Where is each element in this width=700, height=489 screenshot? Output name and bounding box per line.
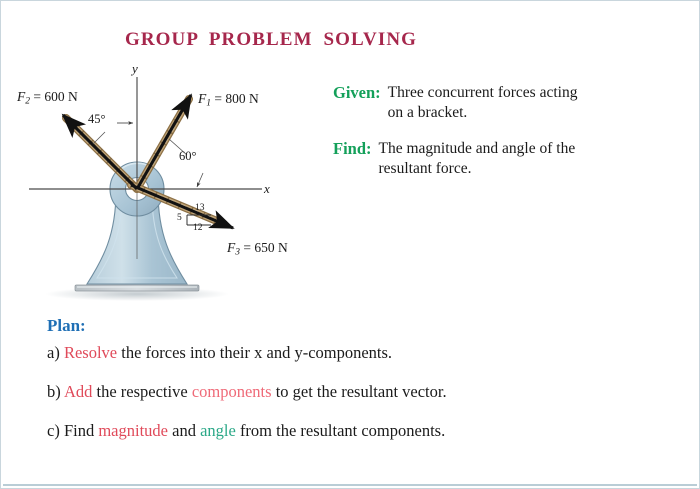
force-diagram: y x F2 = 600 N F1 = 800 N F3 = 650 N 45°…: [19, 63, 329, 308]
force-label-f3: F3 = 650 N: [227, 240, 288, 258]
slope-horizontal-label: 12: [193, 223, 203, 233]
force-value-f2: = 600 N: [30, 89, 78, 104]
force-label-f1: F1 = 800 N: [198, 91, 259, 109]
given-label: Given:: [333, 83, 388, 103]
leader-45: [93, 132, 105, 144]
base-plate: [75, 285, 199, 291]
find-row: Find: The magnitude and angle of the res…: [333, 139, 689, 179]
force-value-f1: = 800 N: [211, 91, 259, 106]
angle-label-60: 60°: [179, 149, 197, 164]
plan-item-text-highlight: magnitude: [98, 421, 168, 440]
find-text: The magnitude and angle of the resultant…: [379, 139, 589, 179]
force-arrow-f1: [137, 95, 191, 189]
given-text: Three concurrent forces acting on a brac…: [388, 83, 584, 123]
plan-item-text: to get the resultant vector.: [272, 382, 447, 401]
plan-item-marker: c): [47, 421, 60, 440]
y-axis-label: y: [132, 61, 138, 77]
plan-list: a) Resolve the forces into their x and y…: [47, 343, 657, 460]
force-label-f2: F2 = 600 N: [17, 89, 78, 107]
plan-item-marker: a): [47, 343, 60, 362]
plan-item-text: the forces into their x and y-components…: [117, 343, 392, 362]
force-symbol-f3: F: [227, 240, 235, 255]
plan-item-2: c) Find magnitude and angle from the res…: [47, 421, 657, 441]
force-symbol-f1: F: [198, 91, 206, 106]
page-title: GROUP PROBLEM SOLVING: [1, 29, 541, 51]
given-row: Given: Three concurrent forces acting on…: [333, 83, 689, 123]
plan-item-text-highlight: Add: [64, 382, 92, 401]
leader-60-lower: [197, 173, 203, 187]
plan-heading: Plan:: [47, 316, 86, 336]
plan-item-text: from the resultant components.: [236, 421, 445, 440]
plan-item-0: a) Resolve the forces into their x and y…: [47, 343, 657, 363]
slope-hypotenuse-label: 13: [195, 203, 205, 213]
find-label: Find:: [333, 139, 379, 159]
plan-item-text-highlight: angle: [200, 421, 236, 440]
slope-vertical-label: 5: [177, 213, 182, 223]
plan-item-text: the respective: [92, 382, 191, 401]
plan-item-text-highlight: Resolve: [64, 343, 117, 362]
plan-item-text: and: [168, 421, 200, 440]
given-find-block: Given: Three concurrent forces acting on…: [333, 83, 689, 196]
force-symbol-f2: F: [17, 89, 25, 104]
plan-item-text-highlight: components: [192, 382, 272, 401]
angle-label-45: 45°: [88, 112, 106, 127]
plan-item-marker: b): [47, 382, 61, 401]
slide-canvas: GROUP PROBLEM SOLVING: [0, 0, 700, 489]
plan-item-text: Find: [60, 421, 99, 440]
force-value-f3: = 650 N: [240, 240, 288, 255]
x-axis-label: x: [264, 181, 270, 197]
plan-item-1: b) Add the respective components to get …: [47, 382, 657, 402]
